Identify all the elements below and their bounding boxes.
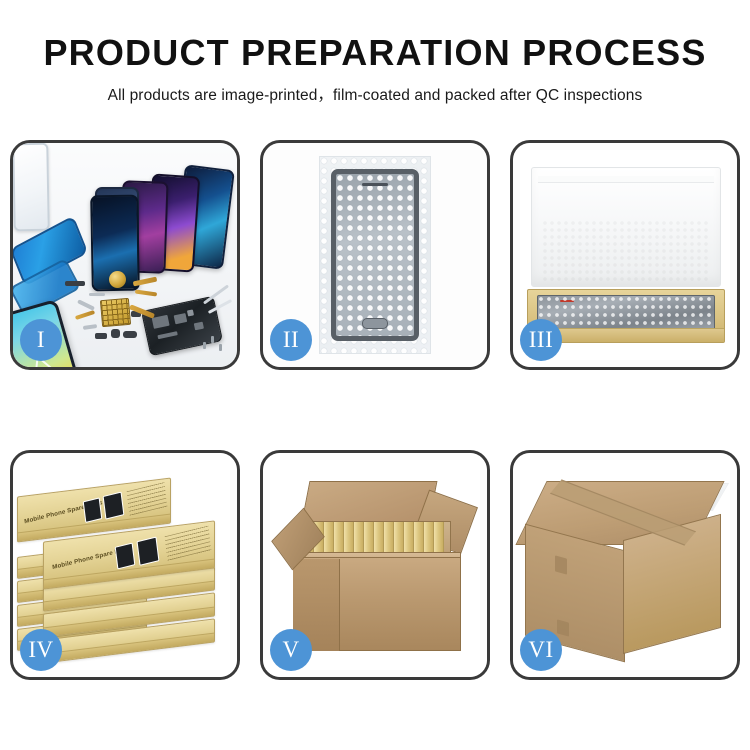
process-step-panel-4[interactable]: Mobile Phone Spare Parts Mobile Phone Sp…	[10, 450, 240, 680]
step-badge-4: IV	[20, 629, 62, 671]
page-header: PRODUCT PREPARATION PROCESS All products…	[0, 34, 750, 105]
process-step-panel-2[interactable]: II	[260, 140, 490, 370]
step-badge-2: II	[270, 319, 312, 361]
battery-connector	[123, 331, 137, 338]
wrapped-phone-screen	[331, 169, 419, 341]
gold-contact-grid	[100, 298, 131, 327]
bubble-wrap-sheet	[319, 156, 431, 354]
wrapped-screen-in-tray	[537, 295, 715, 330]
home-button	[362, 318, 388, 329]
sim-tray	[95, 333, 107, 339]
process-step-panel-5[interactable]: V	[260, 450, 490, 680]
volume-button-strip	[89, 293, 105, 296]
camera-module	[111, 329, 120, 338]
process-step-panel-3[interactable]: III	[510, 140, 740, 370]
screw-c	[219, 344, 222, 351]
glass-panel-white	[13, 143, 50, 231]
step-badge-6: VI	[520, 629, 562, 671]
screw-b	[211, 336, 214, 343]
step-badge-3: III	[520, 319, 562, 361]
step-badge-1: I	[20, 319, 62, 361]
process-step-panel-1[interactable]: I	[10, 140, 240, 370]
speaker-module	[65, 281, 85, 286]
product-preparation-process-page: PRODUCT PREPARATION PROCESS All products…	[0, 0, 750, 750]
earpiece-slot	[362, 183, 388, 186]
screw-a	[203, 342, 206, 349]
step-badge-5: V	[270, 629, 312, 671]
page-title: PRODUCT PREPARATION PROCESS	[0, 34, 750, 72]
carton-tape-tab-upper	[555, 555, 567, 574]
white-foam-lid	[531, 167, 721, 287]
process-step-panel-6[interactable]: VI	[510, 450, 740, 680]
red-label-mark	[560, 300, 574, 302]
page-subtitle: All products are image-printed，film-coat…	[0, 83, 750, 105]
process-step-grid: I II	[10, 140, 740, 680]
vibration-motor	[109, 271, 126, 288]
carton-tape-tab-lower	[557, 619, 569, 636]
